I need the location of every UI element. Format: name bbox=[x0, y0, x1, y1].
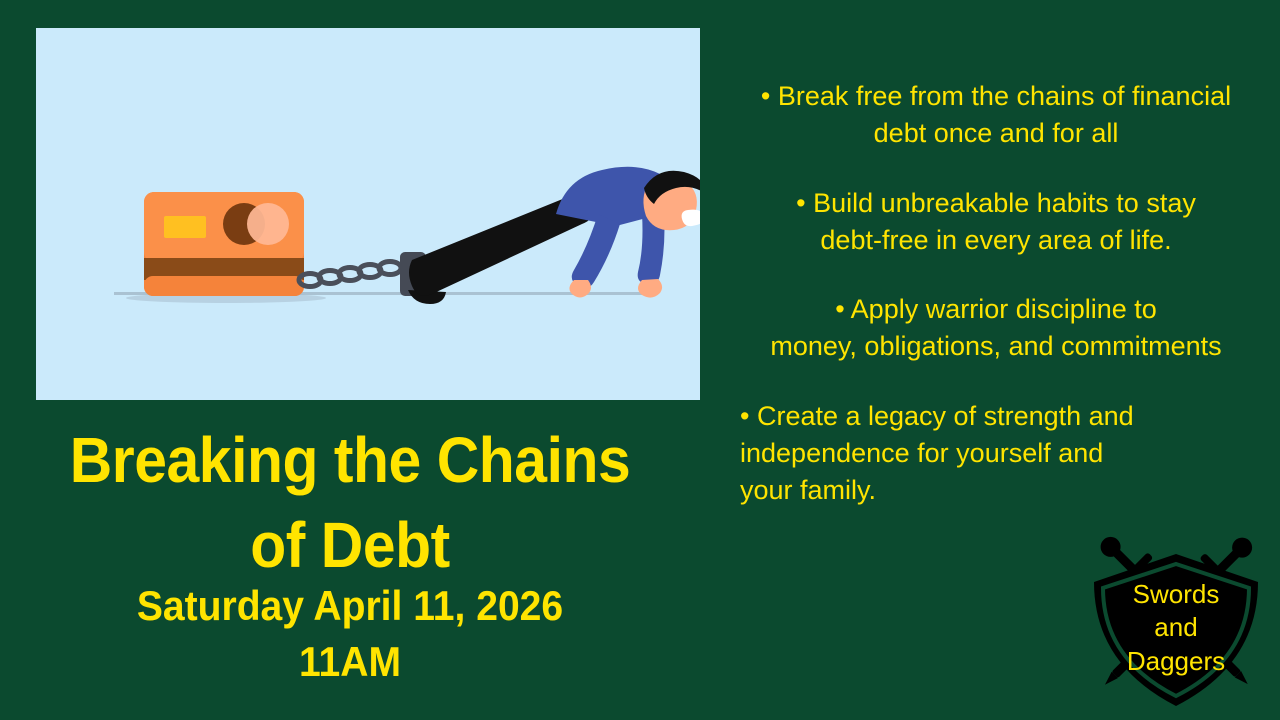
event-time: 11AM bbox=[43, 634, 657, 690]
page-title: Breaking the Chains of Debt bbox=[46, 418, 653, 588]
event-date: Saturday April 11, 2026 bbox=[43, 578, 657, 634]
list-item: • Create a legacy of strength and indepe… bbox=[722, 398, 1270, 510]
shield-icon bbox=[1094, 554, 1258, 706]
list-item: • Break free from the chains of financia… bbox=[722, 78, 1270, 153]
list-item: • Apply warrior discipline to money, obl… bbox=[722, 291, 1270, 366]
chain bbox=[299, 262, 401, 287]
poster-canvas: Breaking the Chains of Debt Saturday Apr… bbox=[0, 0, 1280, 720]
illustration-panel bbox=[36, 28, 700, 400]
debt-chain-illustration bbox=[36, 28, 700, 400]
person bbox=[408, 167, 700, 304]
credit-card bbox=[144, 192, 304, 296]
benefits-list: • Break free from the chains of financia… bbox=[722, 78, 1270, 541]
swords-and-shield-icon bbox=[1068, 506, 1280, 720]
list-item: • Build unbreakable habits to stay debt-… bbox=[722, 185, 1270, 260]
brand-logo: Swords and Daggers bbox=[1068, 506, 1280, 720]
